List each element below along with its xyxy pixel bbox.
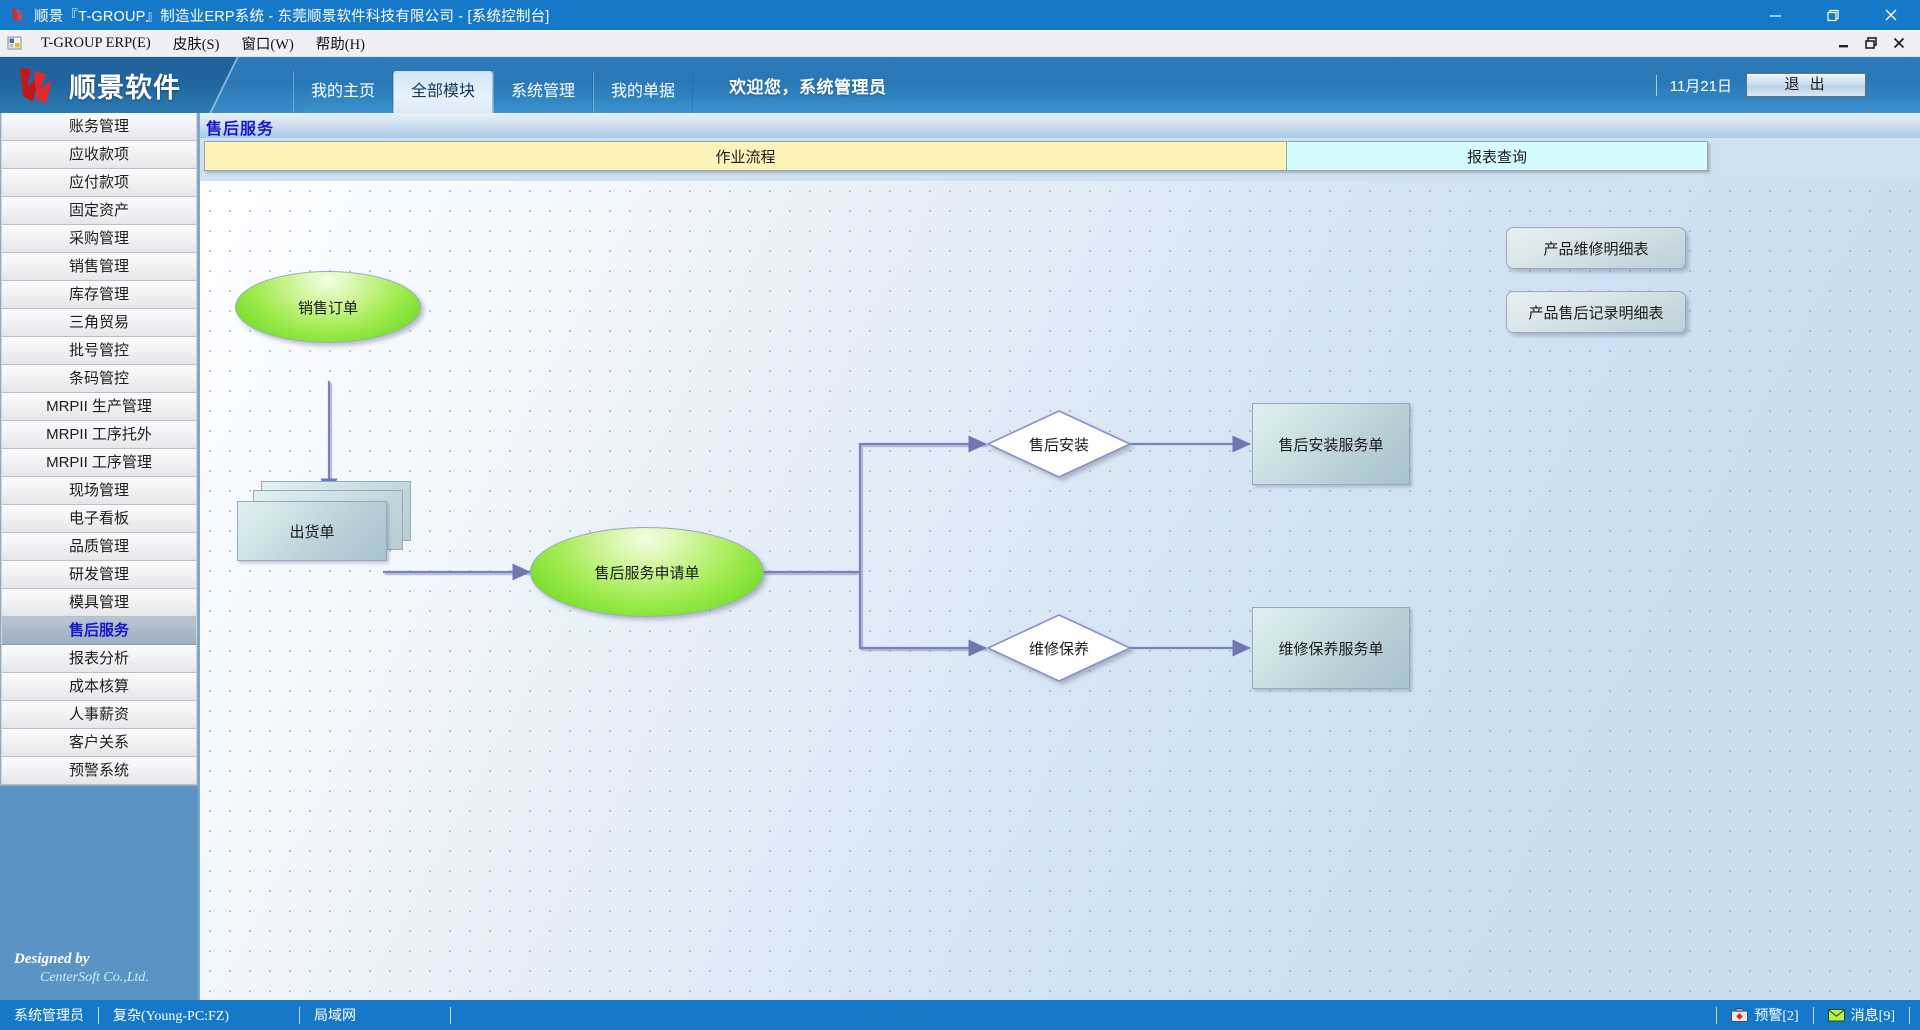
mdi-minimize-icon[interactable] [1830, 32, 1856, 54]
sidebar-item-20[interactable]: 成本核算 [1, 673, 197, 701]
brand-name: 顺景软件 [69, 66, 181, 105]
sidebar-item-16[interactable]: 研发管理 [1, 561, 197, 589]
flow-node-install-decision-label: 售后安装 [986, 409, 1132, 479]
header-spacer [887, 57, 1656, 113]
status-divider-6 [1909, 1007, 1910, 1024]
status-user: 系统管理员 [0, 1000, 98, 1030]
first-aid-kit-icon [1731, 1008, 1748, 1022]
sidebar-item-2[interactable]: 应付款项 [1, 169, 197, 197]
flow-node-service-request-label: 售后服务申请单 [531, 528, 763, 616]
sidebar-item-17[interactable]: 模具管理 [1, 589, 197, 617]
sidebar-item-3[interactable]: 固定资产 [1, 197, 197, 225]
sidebar-item-8[interactable]: 批号管控 [1, 337, 197, 365]
nav-tab-system-admin[interactable]: 系统管理 [493, 71, 593, 113]
window-title-bar: 顺景『T-GROUP』制造业ERP系统 - 东莞顺景软件科技有限公司 - [系统… [0, 0, 1920, 30]
sidebar-item-12[interactable]: MRPII 工序管理 [1, 449, 197, 477]
flow-node-install-decision[interactable]: 售后安装 [986, 409, 1132, 479]
sidebar-credit: Designed by CenterSoft Co.,Ltd. [0, 941, 198, 1000]
content-tab-row: 作业流程 报表查询 [204, 141, 1708, 171]
status-alert-label: 预警[2] [1754, 1005, 1798, 1025]
header-nav-tabs: 我的主页 全部模块 系统管理 我的单据 [293, 57, 693, 113]
window-title-text: 顺景『T-GROUP』制造业ERP系统 - 东莞顺景软件科技有限公司 - [系统… [34, 5, 550, 26]
mdi-document-icon [7, 35, 23, 51]
menu-item-skin[interactable]: 皮肤(S) [162, 30, 231, 57]
sidebar-item-23[interactable]: 预警系统 [1, 757, 197, 785]
nav-tab-my-documents[interactable]: 我的单据 [593, 71, 693, 113]
flow-node-install-service-order-label: 售后安装服务单 [1253, 404, 1409, 484]
sidebar-item-11[interactable]: MRPII 工序托外 [1, 421, 197, 449]
sidebar-item-9[interactable]: 条码管控 [1, 365, 197, 393]
nav-tab-all-modules[interactable]: 全部模块 [393, 71, 493, 113]
body-wrapper: 账务管理应收款项应付款项固定资产采购管理销售管理库存管理三角贸易批号管控条码管控… [0, 113, 1920, 1000]
status-network: 局域网 [300, 1000, 450, 1030]
menu-item-window[interactable]: 窗口(W) [230, 30, 304, 57]
mdi-restore-icon[interactable] [1858, 32, 1884, 54]
flow-node-repair-detail-report-label: 产品维修明细表 [1507, 228, 1685, 268]
sidebar-item-22[interactable]: 客户关系 [1, 729, 197, 757]
status-message[interactable]: 消息[9] [1814, 1000, 1909, 1030]
sidebar-item-18[interactable]: 售后服务 [1, 617, 197, 645]
sidebar-item-21[interactable]: 人事薪资 [1, 701, 197, 729]
flow-node-repair-detail-report[interactable]: 产品维修明细表 [1506, 227, 1686, 269]
header-date: 11月21日 [1656, 75, 1732, 96]
sidebar-item-7[interactable]: 三角贸易 [1, 309, 197, 337]
shunjing-logo-icon [10, 7, 26, 23]
tab-workflow[interactable]: 作业流程 [205, 142, 1287, 170]
sidebar-item-13[interactable]: 现场管理 [1, 477, 197, 505]
flow-node-maintain-service-order-label: 维修保养服务单 [1253, 608, 1409, 688]
header-right: 11月21日 退 出 [1656, 57, 1920, 113]
flow-node-aftersale-detail-report-label: 产品售后记录明细表 [1507, 292, 1685, 332]
restore-icon[interactable] [1804, 0, 1862, 30]
menu-item-help[interactable]: 帮助(H) [305, 30, 376, 57]
sidebar-item-15[interactable]: 品质管理 [1, 533, 197, 561]
mdi-close-icon[interactable] [1886, 32, 1912, 54]
flow-node-maintain-decision-label: 维修保养 [986, 613, 1132, 683]
flow-node-sales-order-label: 销售订单 [236, 272, 420, 342]
sidebar-item-4[interactable]: 采购管理 [1, 225, 197, 253]
credit-line-designed-by: Designed by [14, 951, 198, 968]
sidebar-item-10[interactable]: MRPII 生产管理 [1, 393, 197, 421]
close-icon[interactable] [1862, 0, 1920, 30]
mdi-window-controls [1830, 32, 1920, 54]
sidebar-item-5[interactable]: 销售管理 [1, 253, 197, 281]
flow-node-aftersale-detail-report[interactable]: 产品售后记录明细表 [1506, 291, 1686, 333]
app-header: 顺景软件 我的主页 全部模块 系统管理 我的单据 欢迎您，系统管理员 11月21… [0, 57, 1920, 113]
flow-node-service-request[interactable]: 售后服务申请单 [530, 527, 764, 617]
brand-area: 顺景软件 [0, 57, 275, 113]
page-title: 售后服务 [206, 115, 274, 139]
sidebar: 账务管理应收款项应付款项固定资产采购管理销售管理库存管理三角贸易批号管控条码管控… [0, 113, 200, 1000]
page-title-bar: 售后服务 [200, 113, 1920, 138]
tab-report-query[interactable]: 报表查询 [1287, 142, 1707, 170]
sidebar-item-0[interactable]: 账务管理 [1, 113, 197, 141]
sidebar-item-6[interactable]: 库存管理 [1, 281, 197, 309]
sidebar-item-19[interactable]: 报表分析 [1, 645, 197, 673]
flow-node-sales-order[interactable]: 销售订单 [235, 271, 421, 343]
sidebar-item-14[interactable]: 电子看板 [1, 505, 197, 533]
menu-item-erp[interactable]: T-GROUP ERP(E) [30, 32, 162, 55]
shunjing-flame-logo [16, 65, 62, 105]
minimize-icon[interactable] [1746, 0, 1804, 30]
envelope-icon [1828, 1008, 1845, 1022]
sidebar-item-1[interactable]: 应收款项 [1, 141, 197, 169]
logout-button[interactable]: 退 出 [1746, 73, 1866, 97]
window-controls [1746, 0, 1920, 30]
status-empty-cell [451, 1000, 651, 1030]
main-content: 售后服务 作业流程 报表查询 [200, 113, 1920, 1000]
menu-bar: T-GROUP ERP(E) 皮肤(S) 窗口(W) 帮助(H) [0, 30, 1920, 57]
flow-node-maintain-decision[interactable]: 维修保养 [986, 613, 1132, 683]
flow-node-shipment-order-label: 出货单 [237, 501, 387, 561]
welcome-text: 欢迎您，系统管理员 [729, 73, 887, 98]
flow-node-shipment-order[interactable]: 出货单 [235, 481, 425, 569]
sidebar-filler [0, 786, 198, 941]
workflow-canvas: 销售订单 出货单 售后服务申请单 售后安装 [200, 181, 1920, 1000]
status-message-label: 消息[9] [1851, 1005, 1895, 1025]
flow-node-maintain-service-order[interactable]: 维修保养服务单 [1252, 607, 1410, 689]
credit-line-company: CenterSoft Co.,Ltd. [40, 970, 198, 986]
sidebar-module-list: 账务管理应收款项应付款项固定资产采购管理销售管理库存管理三角贸易批号管控条码管控… [0, 113, 198, 786]
status-bar: 系统管理员 复杂(Young-PC:FZ) 局域网 预警[2] 消息[9] [0, 1000, 1920, 1030]
status-database: 复杂(Young-PC:FZ) [99, 1000, 299, 1030]
status-alert[interactable]: 预警[2] [1717, 1000, 1812, 1030]
flow-node-install-service-order[interactable]: 售后安装服务单 [1252, 403, 1410, 485]
nav-tab-home[interactable]: 我的主页 [293, 71, 393, 113]
